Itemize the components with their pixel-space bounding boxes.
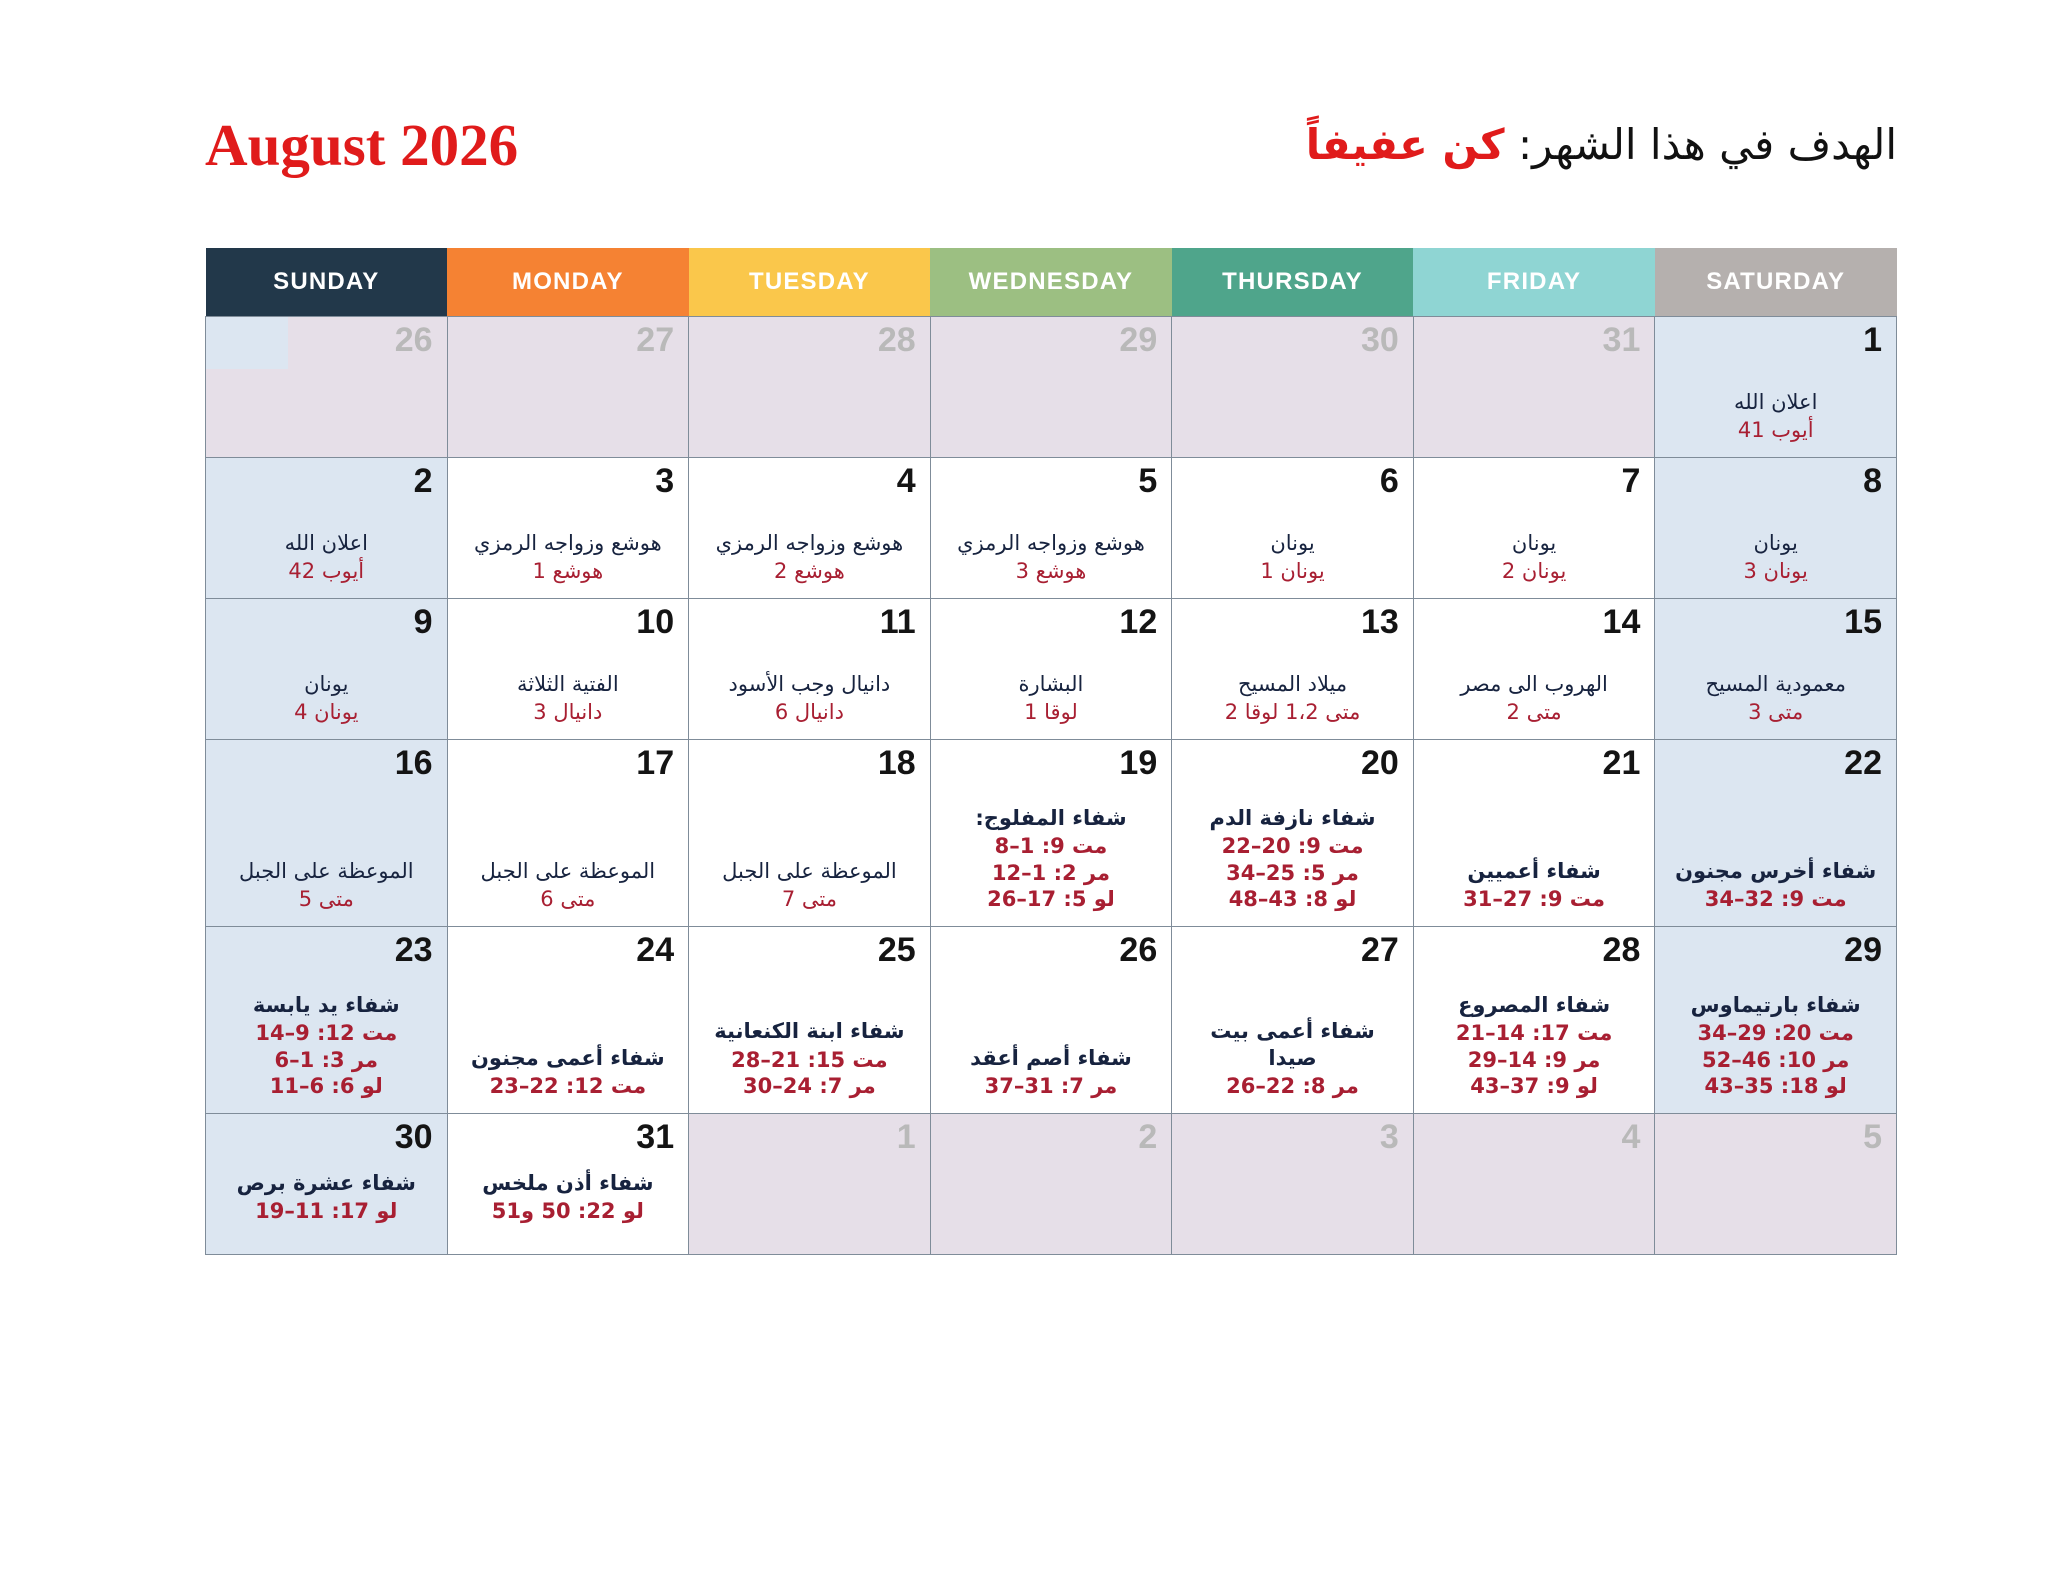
day-entry: يونانيونان 4 (220, 671, 433, 726)
entry-reference: هوشع 3 (945, 558, 1158, 584)
day-entry: دانيال وجب الأسوددانيال 6 (703, 671, 916, 726)
entry-reference: مر 9: 14–29 (1428, 1047, 1641, 1073)
day-cell-body: 5 (1655, 1114, 1896, 1254)
day-cell[interactable]: 28 (689, 317, 931, 458)
month-title: August 2026 (205, 116, 518, 175)
entry-reference: لو 17: 11–19 (220, 1198, 433, 1224)
entry-reference: مر 2: 1–12 (945, 860, 1158, 886)
day-cell[interactable]: 27شفاء أعمى بيت صيدامر 8: 22–26 (1172, 927, 1414, 1114)
day-entry: شفاء يد يابسةمت 12: 9–14مر 3: 1–6لو 6: 6… (220, 992, 433, 1099)
day-cell-body: 20شفاء نازفة الدممت 9: 20–22مر 5: 25–34ل… (1172, 740, 1413, 926)
day-entry: الهروب الى مصرمتى 2 (1428, 671, 1641, 726)
day-number: 27 (1186, 933, 1399, 969)
day-cell-body: 27شفاء أعمى بيت صيدامر 8: 22–26 (1172, 927, 1413, 1113)
entry-reference: مت 20: 29–34 (1669, 1020, 1882, 1046)
day-cell[interactable]: 10الفتية الثلاثةدانيال 3 (447, 599, 689, 740)
day-cell-body: 17الموعظة على الجبلمتى 6 (448, 740, 689, 926)
day-cell[interactable]: 29 (930, 317, 1172, 458)
day-cell[interactable]: 5هوشع وزواجه الرمزيهوشع 3 (930, 458, 1172, 599)
week-row: 30شفاء عشرة برصلو 17: 11–1931شفاء أذن مل… (206, 1114, 1897, 1255)
entry-title: الموعظة على الجبل (703, 858, 916, 884)
day-entry: شفاء المصروعمت 17: 14–21مر 9: 14–29لو 9:… (1428, 992, 1641, 1099)
day-cell[interactable]: 7يونانيونان 2 (1413, 458, 1655, 599)
weekday-label: FRIDAY (1487, 268, 1581, 295)
weekday-header-monday: MONDAY (447, 248, 689, 317)
entry-reference: مت 9: 27–31 (1428, 886, 1641, 912)
day-entry: يونانيونان 3 (1669, 530, 1882, 585)
entry-title: شفاء أصم أعقد (945, 1045, 1158, 1071)
entry-reference: مت 9: 1–8 (945, 833, 1158, 859)
entry-reference: متى 7 (703, 886, 916, 912)
goal-prefix-label: الهدف في هذا الشهر: (1518, 120, 1897, 169)
day-cell[interactable]: 31شفاء أذن ملخسلو 22: 50 و51 (447, 1114, 689, 1255)
day-cell[interactable]: 4 (1413, 1114, 1655, 1255)
day-cell-body: 5هوشع وزواجه الرمزيهوشع 3 (931, 458, 1172, 598)
day-entry: شفاء المفلوج:مت 9: 1–8مر 2: 1–12لو 5: 17… (945, 805, 1158, 912)
day-cell[interactable]: 18الموعظة على الجبلمتى 7 (689, 740, 931, 927)
day-cell-body: 31شفاء أذن ملخسلو 22: 50 و51 (448, 1114, 689, 1254)
day-cell[interactable]: 22شفاء أخرس مجنونمت 9: 32–34 (1655, 740, 1897, 927)
day-entry: شفاء أعميينمت 9: 27–31 (1428, 858, 1641, 913)
day-cell[interactable]: 8يونانيونان 3 (1655, 458, 1897, 599)
day-cell[interactable]: 23شفاء يد يابسةمت 12: 9–14مر 3: 1–6لو 6:… (206, 927, 448, 1114)
day-cell-body: 22شفاء أخرس مجنونمت 9: 32–34 (1655, 740, 1896, 926)
entry-title: شفاء أخرس مجنون (1669, 858, 1882, 884)
day-cell-body: 23شفاء يد يابسةمت 12: 9–14مر 3: 1–6لو 6:… (206, 927, 447, 1113)
entry-reference: مر 7: 31–37 (945, 1073, 1158, 1099)
day-cell-body: 26شفاء أصم أعقدمر 7: 31–37 (931, 927, 1172, 1113)
weekday-label: MONDAY (512, 268, 624, 295)
entry-reference: مت 15: 21–28 (703, 1047, 916, 1073)
calendar-page: August 2026 الهدف في هذا الشهر: كن عفيفا… (0, 0, 2048, 1583)
day-number: 14 (1428, 605, 1641, 641)
day-entry: يونانيونان 2 (1428, 530, 1641, 585)
day-number: 15 (1669, 605, 1882, 641)
day-number: 5 (945, 464, 1158, 500)
day-cell-body: 31 (1414, 317, 1655, 457)
day-number: 28 (1428, 933, 1641, 969)
entry-reference: مر 7: 24–30 (703, 1073, 916, 1099)
day-number: 2 (945, 1120, 1158, 1156)
day-cell[interactable]: 26شفاء أصم أعقدمر 7: 31–37 (930, 927, 1172, 1114)
entry-reference: يونان 4 (220, 699, 433, 725)
entry-title: دانيال وجب الأسود (703, 671, 916, 697)
day-cell-body: 27 (448, 317, 689, 457)
entry-reference: لوقا 1 (945, 699, 1158, 725)
day-number: 18 (703, 746, 916, 782)
day-cell-body: 19شفاء المفلوج:مت 9: 1–8مر 2: 1–12لو 5: … (931, 740, 1172, 926)
day-cell[interactable]: 13ميلاد المسيحمتى 1،2 لوقا 2 (1172, 599, 1414, 740)
entry-title: الهروب الى مصر (1428, 671, 1641, 697)
day-cell-body: 26 (206, 317, 447, 457)
entry-reference: مت 12: 22–23 (462, 1073, 675, 1099)
day-entry: شفاء عشرة برصلو 17: 11–19 (220, 1170, 433, 1225)
day-number: 30 (220, 1120, 433, 1156)
weekday-header-tuesday: TUESDAY (689, 248, 931, 317)
weeks-body: 2627282930311اعلان اللهأيوب 412اعلان الل… (206, 317, 1897, 1255)
entry-reference: دانيال 6 (703, 699, 916, 725)
day-number: 21 (1428, 746, 1641, 782)
day-entry: معمودية المسيحمتى 3 (1669, 671, 1882, 726)
day-cell-body: 2 (931, 1114, 1172, 1254)
entry-reference: متى 5 (220, 886, 433, 912)
day-entry: شفاء ابنة الكنعانيةمت 15: 21–28مر 7: 24–… (703, 1018, 916, 1099)
day-cell[interactable]: 30شفاء عشرة برصلو 17: 11–19 (206, 1114, 448, 1255)
day-cell-body: 29شفاء بارتيماوسمت 20: 29–34مر 10: 46–52… (1655, 927, 1896, 1113)
day-number: 7 (1428, 464, 1641, 500)
day-cell-body: 16الموعظة على الجبلمتى 5 (206, 740, 447, 926)
day-number: 28 (703, 323, 916, 359)
entry-title: هوشع وزواجه الرمزي (462, 530, 675, 556)
day-number: 4 (1428, 1120, 1641, 1156)
entry-reference: لو 22: 50 و51 (462, 1198, 675, 1224)
day-cell-body: 3 (1172, 1114, 1413, 1254)
day-cell[interactable]: 1 (689, 1114, 931, 1255)
day-entry: شفاء أذن ملخسلو 22: 50 و51 (462, 1170, 675, 1225)
entry-title: الفتية الثلاثة (462, 671, 675, 697)
day-cell-body: 13ميلاد المسيحمتى 1،2 لوقا 2 (1172, 599, 1413, 739)
day-number: 4 (703, 464, 916, 500)
day-cell[interactable]: 26 (206, 317, 448, 458)
entry-title: شفاء أعمى بيت صيدا (1186, 1018, 1399, 1071)
day-cell[interactable]: 19شفاء المفلوج:مت 9: 1–8مر 2: 1–12لو 5: … (930, 740, 1172, 927)
day-cell-body: 28 (689, 317, 930, 457)
day-number: 25 (703, 933, 916, 969)
day-cell[interactable]: 2 (930, 1114, 1172, 1255)
week-row: 16الموعظة على الجبلمتى 517الموعظة على ال… (206, 740, 1897, 927)
entry-reference: مر 10: 46–52 (1669, 1047, 1882, 1073)
entry-title: يونان (220, 671, 433, 697)
day-number: 27 (462, 323, 675, 359)
week-row: 2اعلان اللهأيوب 423هوشع وزواجه الرمزيهوش… (206, 458, 1897, 599)
day-cell-body: 3هوشع وزواجه الرمزيهوشع 1 (448, 458, 689, 598)
day-number: 12 (945, 605, 1158, 641)
day-cell-body: 30شفاء عشرة برصلو 17: 11–19 (206, 1114, 447, 1254)
entry-reference: متى 2 (1428, 699, 1641, 725)
weekday-header-sunday: SUNDAY (206, 248, 448, 317)
day-cell[interactable]: 5 (1655, 1114, 1897, 1255)
weekday-header-saturday: SATURDAY (1655, 248, 1897, 317)
weekday-label: SATURDAY (1706, 268, 1845, 295)
entry-title: يونان (1186, 530, 1399, 556)
day-entry: ميلاد المسيحمتى 1،2 لوقا 2 (1186, 671, 1399, 726)
weekday-label: THURSDAY (1222, 268, 1363, 295)
day-cell[interactable]: 29شفاء بارتيماوسمت 20: 29–34مر 10: 46–52… (1655, 927, 1897, 1114)
entry-reference: لو 9: 37–43 (1428, 1073, 1641, 1099)
day-cell[interactable]: 24شفاء أعمى مجنونمت 12: 22–23 (447, 927, 689, 1114)
entry-reference: لو 5: 17–26 (945, 886, 1158, 912)
day-cell-body: 25شفاء ابنة الكنعانيةمت 15: 21–28مر 7: 2… (689, 927, 930, 1113)
day-entry: الفتية الثلاثةدانيال 3 (462, 671, 675, 726)
entry-reference: مت 17: 14–21 (1428, 1020, 1641, 1046)
day-entry: الموعظة على الجبلمتى 5 (220, 858, 433, 913)
entry-title: شفاء ابنة الكنعانية (703, 1018, 916, 1044)
day-number: 1 (703, 1120, 916, 1156)
entry-title: شفاء المفلوج: (945, 805, 1158, 831)
day-entry: البشارةلوقا 1 (945, 671, 1158, 726)
entry-reference: متى 6 (462, 886, 675, 912)
day-number: 17 (462, 746, 675, 782)
entry-title: شفاء يد يابسة (220, 992, 433, 1018)
entry-reference: يونان 1 (1186, 558, 1399, 584)
day-cell-body: 6يونانيونان 1 (1172, 458, 1413, 598)
day-number: 16 (220, 746, 433, 782)
day-entry: الموعظة على الجبلمتى 6 (462, 858, 675, 913)
goal-value-text: كن عفيفاً (1306, 120, 1505, 169)
day-cell[interactable]: 9يونانيونان 4 (206, 599, 448, 740)
weekday-header-friday: FRIDAY (1413, 248, 1655, 317)
day-cell-body: 1 (689, 1114, 930, 1254)
day-cell[interactable]: 21شفاء أعميينمت 9: 27–31 (1413, 740, 1655, 927)
day-number: 13 (1186, 605, 1399, 641)
day-cell-body: 21شفاء أعميينمت 9: 27–31 (1414, 740, 1655, 926)
day-cell-body: 9يونانيونان 4 (206, 599, 447, 739)
day-number: 10 (462, 605, 675, 641)
day-cell[interactable]: 3هوشع وزواجه الرمزيهوشع 1 (447, 458, 689, 599)
entry-title: اعلان الله (1669, 389, 1882, 415)
entry-reference: لو 6: 6–11 (220, 1073, 433, 1099)
entry-title: ميلاد المسيح (1186, 671, 1399, 697)
entry-reference: هوشع 2 (703, 558, 916, 584)
weekday-label: SUNDAY (273, 268, 379, 295)
day-number: 29 (945, 323, 1158, 359)
entry-reference: لو 8: 43–48 (1186, 886, 1399, 912)
day-cell[interactable]: 28شفاء المصروعمت 17: 14–21مر 9: 14–29لو … (1413, 927, 1655, 1114)
day-cell-body: 15معمودية المسيحمتى 3 (1655, 599, 1896, 739)
day-number: 19 (945, 746, 1158, 782)
day-cell[interactable]: 4هوشع وزواجه الرمزيهوشع 2 (689, 458, 931, 599)
day-cell-body: 4هوشع وزواجه الرمزيهوشع 2 (689, 458, 930, 598)
day-cell-body: 28شفاء المصروعمت 17: 14–21مر 9: 14–29لو … (1414, 927, 1655, 1113)
entry-reference: مر 8: 22–26 (1186, 1073, 1399, 1099)
day-cell-body: 2اعلان اللهأيوب 42 (206, 458, 447, 598)
day-number: 24 (462, 933, 675, 969)
day-cell-body: 4 (1414, 1114, 1655, 1254)
day-number: 23 (220, 933, 433, 969)
weekday-header-wednesday: WEDNESDAY (930, 248, 1172, 317)
day-cell[interactable]: 3 (1172, 1114, 1414, 1255)
day-cell[interactable]: 15معمودية المسيحمتى 3 (1655, 599, 1897, 740)
day-number: 1 (1669, 323, 1882, 359)
entry-title: البشارة (945, 671, 1158, 697)
day-cell[interactable]: 14الهروب الى مصرمتى 2 (1413, 599, 1655, 740)
day-entry: اعلان اللهأيوب 42 (220, 530, 433, 585)
entry-title: اعلان الله (220, 530, 433, 556)
day-cell-body: 11دانيال وجب الأسوددانيال 6 (689, 599, 930, 739)
day-number: 20 (1186, 746, 1399, 782)
entry-reference: أيوب 41 (1669, 417, 1882, 443)
day-number: 8 (1669, 464, 1882, 500)
entry-reference: يونان 2 (1428, 558, 1641, 584)
day-cell[interactable]: 17الموعظة على الجبلمتى 6 (447, 740, 689, 927)
day-cell-body: 8يونانيونان 3 (1655, 458, 1896, 598)
day-cell[interactable]: 12البشارةلوقا 1 (930, 599, 1172, 740)
entry-title: هوشع وزواجه الرمزي (945, 530, 1158, 556)
day-cell[interactable]: 1اعلان اللهأيوب 41 (1655, 317, 1897, 458)
entry-reference: أيوب 42 (220, 558, 433, 584)
day-number: 31 (1428, 323, 1641, 359)
day-cell-body: 18الموعظة على الجبلمتى 7 (689, 740, 930, 926)
day-entry: هوشع وزواجه الرمزيهوشع 2 (703, 530, 916, 585)
day-entry: هوشع وزواجه الرمزيهوشع 3 (945, 530, 1158, 585)
entry-reference: متى 3 (1669, 699, 1882, 725)
day-entry: شفاء نازفة الدممت 9: 20–22مر 5: 25–34لو … (1186, 805, 1399, 912)
day-cell-body: 12البشارةلوقا 1 (931, 599, 1172, 739)
entry-title: شفاء أعميين (1428, 858, 1641, 884)
day-cell[interactable]: 31 (1413, 317, 1655, 458)
day-number: 30 (1186, 323, 1399, 359)
entry-title: شفاء أذن ملخس (462, 1170, 675, 1196)
day-cell[interactable]: 25شفاء ابنة الكنعانيةمت 15: 21–28مر 7: 2… (689, 927, 931, 1114)
month-grid: SUNDAYMONDAYTUESDAYWEDNESDAYTHURSDAYFRID… (205, 248, 1897, 1255)
day-cell[interactable]: 16الموعظة على الجبلمتى 5 (206, 740, 448, 927)
entry-title: يونان (1669, 530, 1882, 556)
corner-highlight-marker (206, 317, 288, 369)
entry-reference: يونان 3 (1669, 558, 1882, 584)
week-row: 23شفاء يد يابسةمت 12: 9–14مر 3: 1–6لو 6:… (206, 927, 1897, 1114)
day-entry: الموعظة على الجبلمتى 7 (703, 858, 916, 913)
day-number: 6 (1186, 464, 1399, 500)
day-number: 3 (462, 464, 675, 500)
entry-reference: لو 18: 35–43 (1669, 1073, 1882, 1099)
entry-title: شفاء بارتيماوس (1669, 992, 1882, 1018)
day-number: 31 (462, 1120, 675, 1156)
entry-title: شفاء المصروع (1428, 992, 1641, 1018)
week-row: 9يونانيونان 410الفتية الثلاثةدانيال 311د… (206, 599, 1897, 740)
entry-title: شفاء نازفة الدم (1186, 805, 1399, 831)
day-number: 26 (945, 933, 1158, 969)
entry-reference: مت 9: 20–22 (1186, 833, 1399, 859)
day-entry: شفاء بارتيماوسمت 20: 29–34مر 10: 46–52لو… (1669, 992, 1882, 1099)
weekday-header-row: SUNDAYMONDAYTUESDAYWEDNESDAYTHURSDAYFRID… (206, 248, 1897, 317)
entry-title: شفاء أعمى مجنون (462, 1045, 675, 1071)
entry-title: يونان (1428, 530, 1641, 556)
day-entry: شفاء أصم أعقدمر 7: 31–37 (945, 1045, 1158, 1100)
page-header: August 2026 الهدف في هذا الشهر: كن عفيفا… (205, 100, 1897, 190)
monthly-goal: الهدف في هذا الشهر: كن عفيفاً (1306, 122, 1897, 168)
entry-title: الموعظة على الجبل (462, 858, 675, 884)
day-cell[interactable]: 20شفاء نازفة الدممت 9: 20–22مر 5: 25–34ل… (1172, 740, 1414, 927)
entry-reference: هوشع 1 (462, 558, 675, 584)
day-entry: يونانيونان 1 (1186, 530, 1399, 585)
day-entry: هوشع وزواجه الرمزيهوشع 1 (462, 530, 675, 585)
day-number: 3 (1186, 1120, 1399, 1156)
week-row: 2627282930311اعلان اللهأيوب 41 (206, 317, 1897, 458)
entry-reference: مت 9: 32–34 (1669, 886, 1882, 912)
day-cell[interactable]: 30 (1172, 317, 1414, 458)
day-entry: شفاء أعمى مجنونمت 12: 22–23 (462, 1045, 675, 1100)
day-number: 2 (220, 464, 433, 500)
entry-reference: مر 3: 1–6 (220, 1047, 433, 1073)
weekday-label: TUESDAY (749, 268, 870, 295)
day-number: 5 (1669, 1120, 1882, 1156)
day-cell-body: 10الفتية الثلاثةدانيال 3 (448, 599, 689, 739)
day-cell-body: 24شفاء أعمى مجنونمت 12: 22–23 (448, 927, 689, 1113)
day-cell[interactable]: 11دانيال وجب الأسوددانيال 6 (689, 599, 931, 740)
day-number: 29 (1669, 933, 1882, 969)
weekday-label: WEDNESDAY (969, 268, 1134, 295)
day-entry: شفاء أخرس مجنونمت 9: 32–34 (1669, 858, 1882, 913)
day-entry: شفاء أعمى بيت صيدامر 8: 22–26 (1186, 1018, 1399, 1099)
day-entry: اعلان اللهأيوب 41 (1669, 389, 1882, 444)
entry-title: شفاء عشرة برص (220, 1170, 433, 1196)
day-number: 9 (220, 605, 433, 641)
entry-title: معمودية المسيح (1669, 671, 1882, 697)
entry-reference: دانيال 3 (462, 699, 675, 725)
entry-reference: مر 5: 25–34 (1186, 860, 1399, 886)
day-cell[interactable]: 2اعلان اللهأيوب 42 (206, 458, 448, 599)
day-cell[interactable]: 6يونانيونان 1 (1172, 458, 1414, 599)
entry-title: الموعظة على الجبل (220, 858, 433, 884)
entry-reference: متى 1،2 لوقا 2 (1186, 699, 1399, 725)
entry-title: هوشع وزواجه الرمزي (703, 530, 916, 556)
day-cell-body: 1اعلان اللهأيوب 41 (1655, 317, 1896, 457)
day-cell-body: 7يونانيونان 2 (1414, 458, 1655, 598)
day-cell[interactable]: 27 (447, 317, 689, 458)
day-cell-body: 30 (1172, 317, 1413, 457)
day-number: 11 (703, 605, 916, 641)
day-cell-body: 29 (931, 317, 1172, 457)
day-cell-body: 14الهروب الى مصرمتى 2 (1414, 599, 1655, 739)
weekday-header-thursday: THURSDAY (1172, 248, 1414, 317)
entry-reference: مت 12: 9–14 (220, 1020, 433, 1046)
day-number: 22 (1669, 746, 1882, 782)
